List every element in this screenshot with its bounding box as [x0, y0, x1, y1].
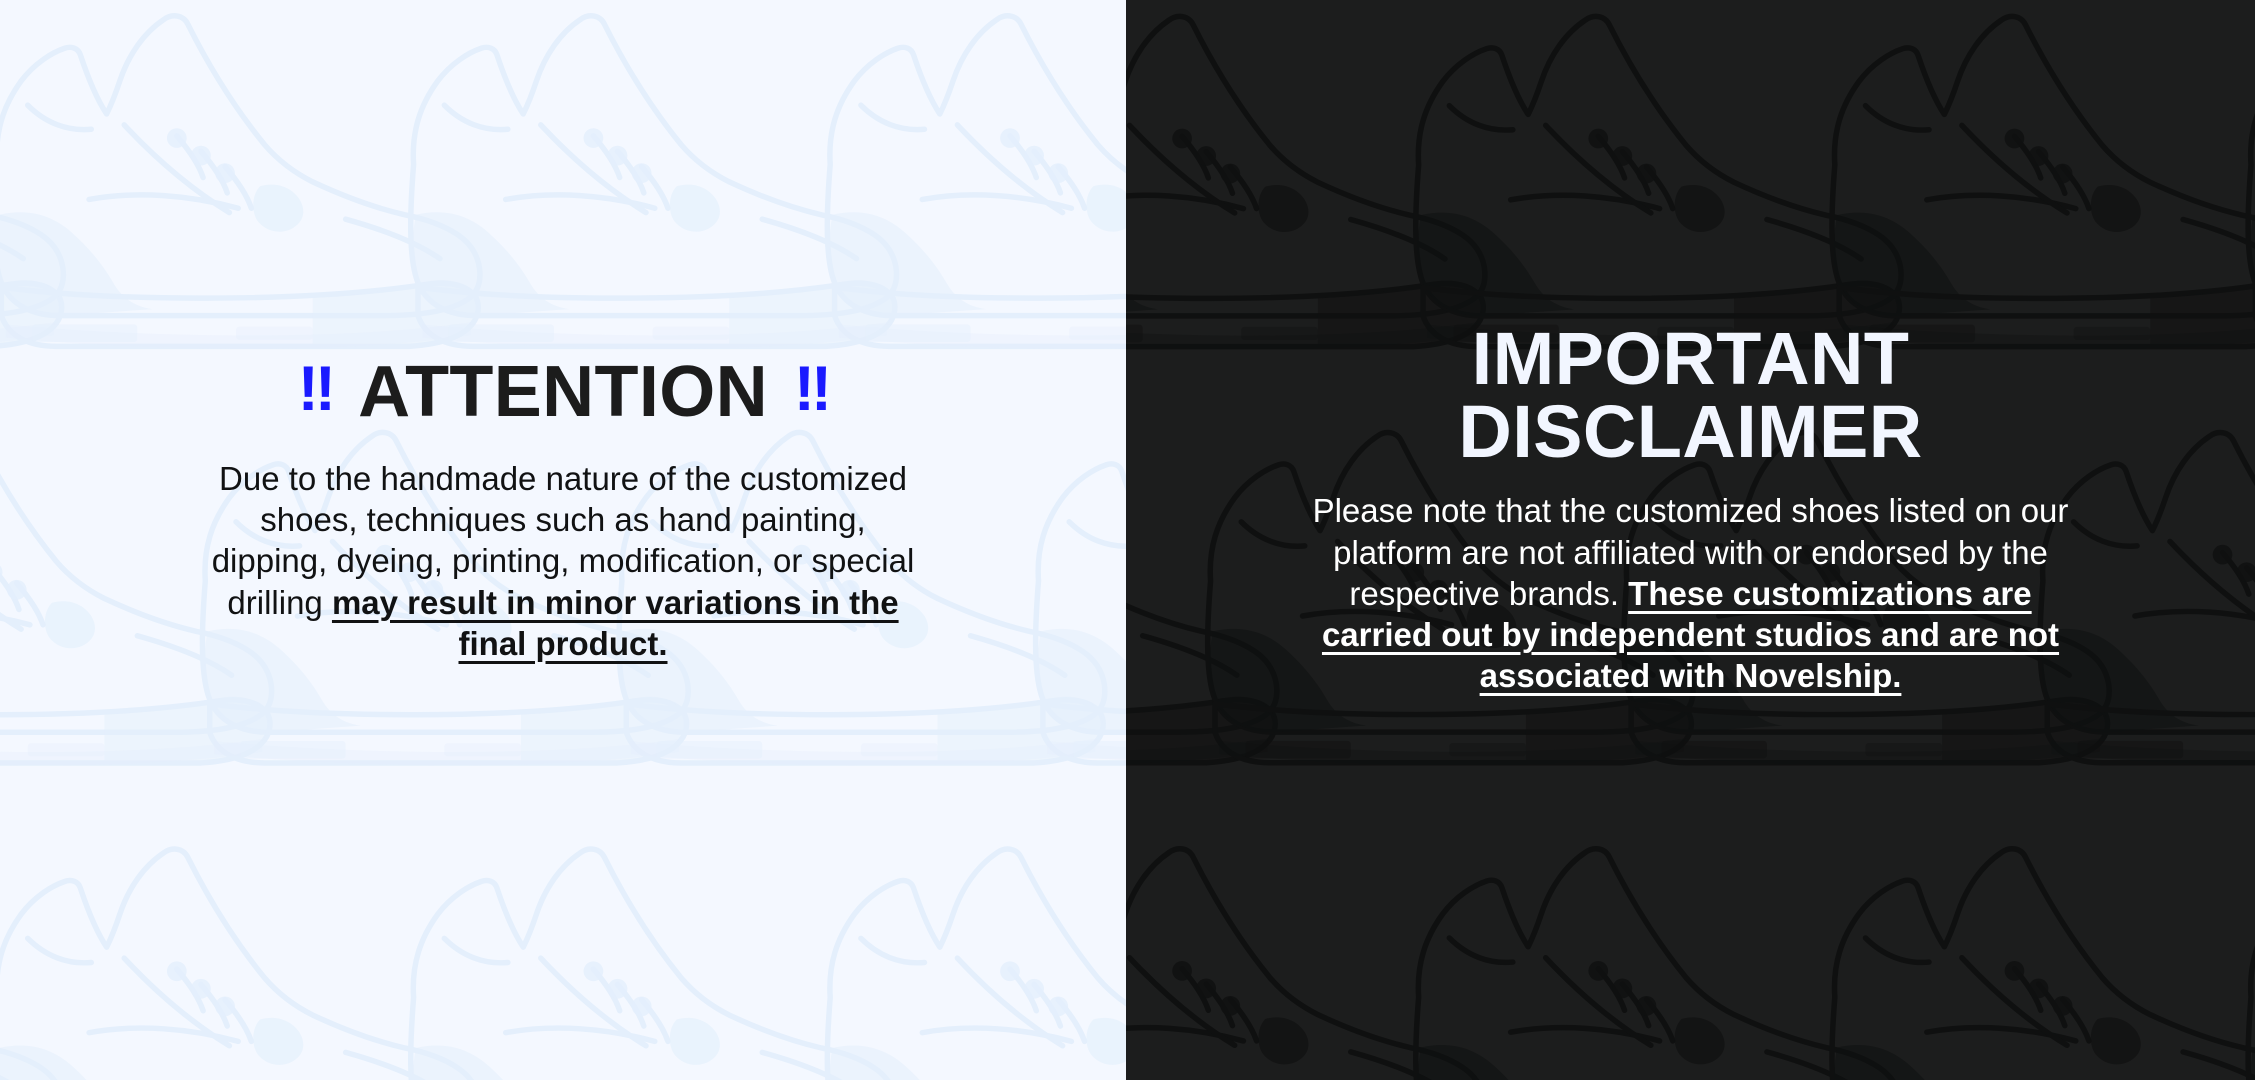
disclaimer-heading-line1: IMPORTANT [1271, 323, 2111, 396]
attention-content: ‼ ATTENTION ‼ Due to the handmade nature… [183, 356, 943, 724]
disclaimer-heading: IMPORTANT DISCLAIMER [1271, 323, 2111, 468]
attention-heading: ‼ ATTENTION ‼ [183, 356, 943, 428]
double-exclamation-icon-left: ‼ [298, 358, 332, 421]
attention-heading-text: ATTENTION [358, 356, 768, 428]
disclaimer-content: IMPORTANT DISCLAIMER Please note that th… [1271, 323, 2111, 756]
disclaimer-body: Please note that the customized shoes li… [1291, 490, 2091, 696]
attention-panel: ‼ ATTENTION ‼ Due to the handmade nature… [0, 0, 1126, 1080]
double-exclamation-icon-right: ‼ [794, 358, 828, 421]
attention-body: Due to the handmade nature of the custom… [203, 458, 923, 664]
disclaimer-heading-line2: DISCLAIMER [1271, 396, 2111, 469]
disclaimer-banner: ‼ ATTENTION ‼ Due to the handmade nature… [0, 0, 2255, 1080]
disclaimer-panel: IMPORTANT DISCLAIMER Please note that th… [1126, 0, 2255, 1080]
attention-body-emphasis: may result in minor variations in the fi… [332, 584, 899, 662]
